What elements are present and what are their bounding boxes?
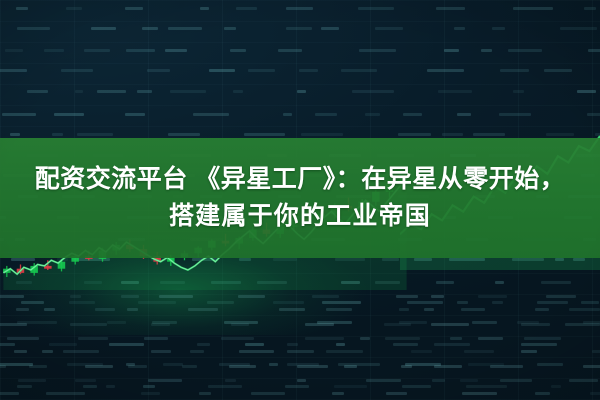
headline-line-1: 配资交流平台 《异星工厂》：在异星从零开始， [35, 163, 565, 196]
headline-line-2: 搭建属于你的工业帝国 [169, 200, 431, 233]
banner-image: 配资交流平台 《异星工厂》：在异星从零开始， 搭建属于你的工业帝国 [0, 0, 600, 400]
bottom-data-noise [0, 290, 600, 400]
headline-text-group: 配资交流平台 《异星工厂》：在异星从零开始， 搭建属于你的工业帝国 [0, 138, 600, 258]
